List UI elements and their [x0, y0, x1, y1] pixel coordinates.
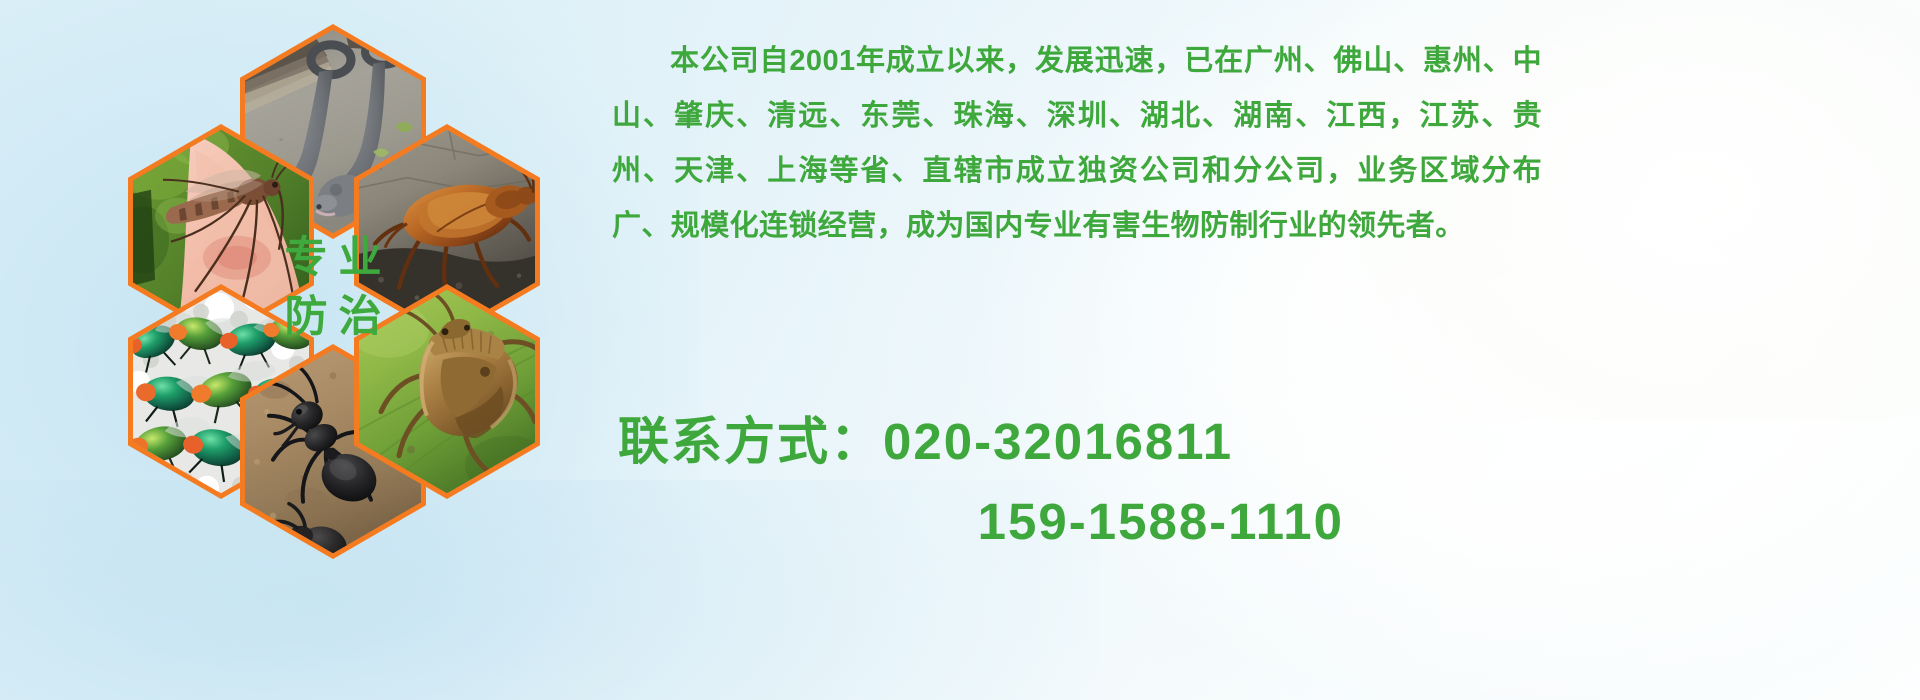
slogan-word-professional: 专业 — [274, 237, 393, 280]
hex-center-slogan: 专业 防治 — [240, 180, 426, 395]
intro-copy-block: 本公司自2001年成立以来，发展迅速，已在广州、佛山、惠州、中山、肇庆、清远、东… — [612, 34, 1542, 254]
contact-block: 联系方式：020-32016811 159-1588-1110 — [618, 402, 1378, 562]
contact-landline-line[interactable]: 联系方式：020-32016811 — [618, 402, 1378, 482]
intro-paragraph: 本公司自2001年成立以来，发展迅速，已在广州、佛山、惠州、中山、肇庆、清远、东… — [612, 34, 1542, 254]
contact-mobile-line[interactable]: 159-1588-1110 — [618, 482, 1378, 562]
hexagon-photo-cluster: 专业 防治 — [92, 8, 572, 568]
slogan-word-control: 防治 — [274, 296, 393, 339]
pest-control-banner: 专业 防治 本公司自2001年成立以来，发展迅速，已在广州、佛山、惠州、中山、肇… — [0, 0, 1920, 700]
